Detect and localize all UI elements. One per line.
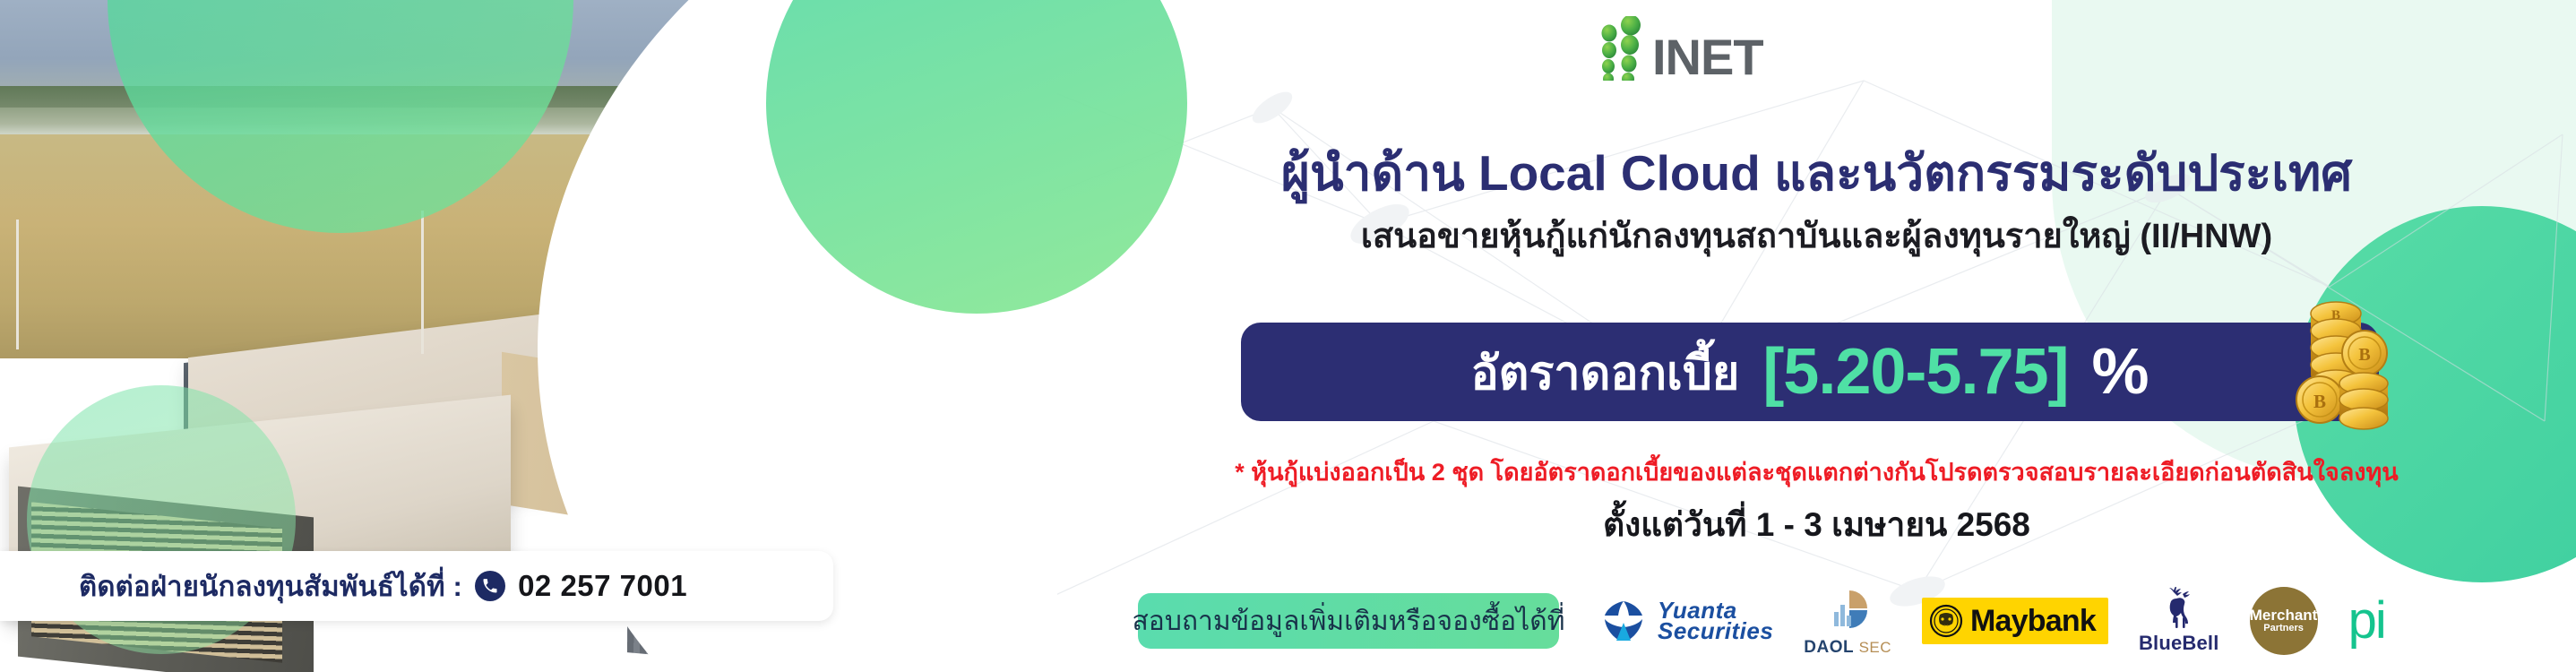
contact-phone-number: 02 257 7001 — [518, 569, 687, 603]
inet-dot-matrix-logo-icon — [1595, 16, 1647, 81]
interest-rate-value: [5.20-5.75] — [1762, 340, 2068, 404]
partner-name-line2: SEC — [1859, 639, 1891, 656]
partner-name-line1: Maybank — [1970, 604, 2096, 639]
daol-pie-chart-icon — [1820, 585, 1875, 635]
maybank-tiger-icon — [1929, 604, 1963, 638]
svg-text:B: B — [2358, 345, 2370, 365]
partner-logo-pi[interactable]: pi — [2348, 600, 2385, 642]
partner-name-line1: BlueBell — [2139, 632, 2219, 655]
inet-logo: INET — [1595, 16, 1763, 81]
content-column: INET ผู้นำด้าน Local Cloud และนวัตกรรมระ… — [1057, 0, 2576, 672]
partners-row: สอบถามข้อมูลเพิ่มเติมหรือจองซื้อได้ที่ — [1138, 581, 2572, 661]
partner-name-line2: Securities — [1658, 621, 1773, 642]
interest-rate-badge: อัตราดอกเบี้ย [5.20-5.75] % — [1241, 323, 2379, 421]
contact-cta-button[interactable]: สอบถามข้อมูลเพิ่มเติมหรือจองซื้อได้ที่ — [1138, 593, 1559, 649]
partner-logo-merchant-partners[interactable]: Merchant Partners — [2250, 587, 2318, 655]
svg-text:B: B — [2331, 308, 2340, 323]
partner-logo-yuanta-securities[interactable]: Yuanta Securities — [1600, 598, 1773, 644]
gold-coin-stack-icon: B B B — [2264, 289, 2399, 450]
svg-text:B: B — [2313, 391, 2326, 412]
interest-rate-label: อัตราดอกเบี้ย — [1470, 335, 1739, 409]
partner-name-line2: Partners — [2263, 624, 2304, 634]
partner-name-line1: Merchant — [2250, 607, 2318, 624]
contact-label: ติดต่อฝ่ายนักลงทุนสัมพันธ์ได้ที่ : — [79, 564, 462, 608]
partner-logo-maybank[interactable]: Maybank — [1922, 598, 2108, 644]
partner-name-line1: pi — [2348, 600, 2385, 642]
contact-cta-label: สอบถามข้อมูลเพิ่มเติมหรือจองซื้อได้ที่ — [1132, 600, 1564, 642]
page-subtitle: เสนอขายหุ้นกู้แก่นักลงทุนสถาบันและผู้ลงท… — [1057, 208, 2576, 263]
investor-relations-contact-card: ติดต่อฝ่ายนักลงทุนสัมพันธ์ได้ที่ : 02 25… — [0, 551, 833, 621]
inet-logo-text: INET — [1652, 33, 1763, 81]
phone-icon — [475, 571, 505, 601]
page-title: ผู้นำด้าน Local Cloud และนวัตกรรมระดับปร… — [1057, 134, 2576, 212]
offering-disclaimer: * หุ้นกู้แบ่งออกเป็น 2 ชุด โดยอัตราดอกเบ… — [1057, 452, 2576, 491]
yuanta-burst-icon — [1600, 598, 1647, 644]
partner-name-line1: DAOL — [1804, 638, 1853, 657]
bluebell-deer-icon — [2156, 587, 2202, 630]
inet-bond-offering-banner: ติดต่อฝ่ายนักลงทุนสัมพันธ์ได้ที่ : 02 25… — [0, 0, 2576, 672]
partner-logo-list: Yuanta Securities DAOL — [1600, 585, 2385, 658]
partner-logo-bluebell[interactable]: BlueBell — [2139, 587, 2219, 655]
offering-date-range: ตั้งแต่วันที่ 1 - 3 เมษายน 2568 — [1057, 498, 2576, 551]
interest-rate-unit: % — [2092, 340, 2150, 404]
partner-logo-daol-sec[interactable]: DAOL SEC — [1804, 585, 1891, 658]
